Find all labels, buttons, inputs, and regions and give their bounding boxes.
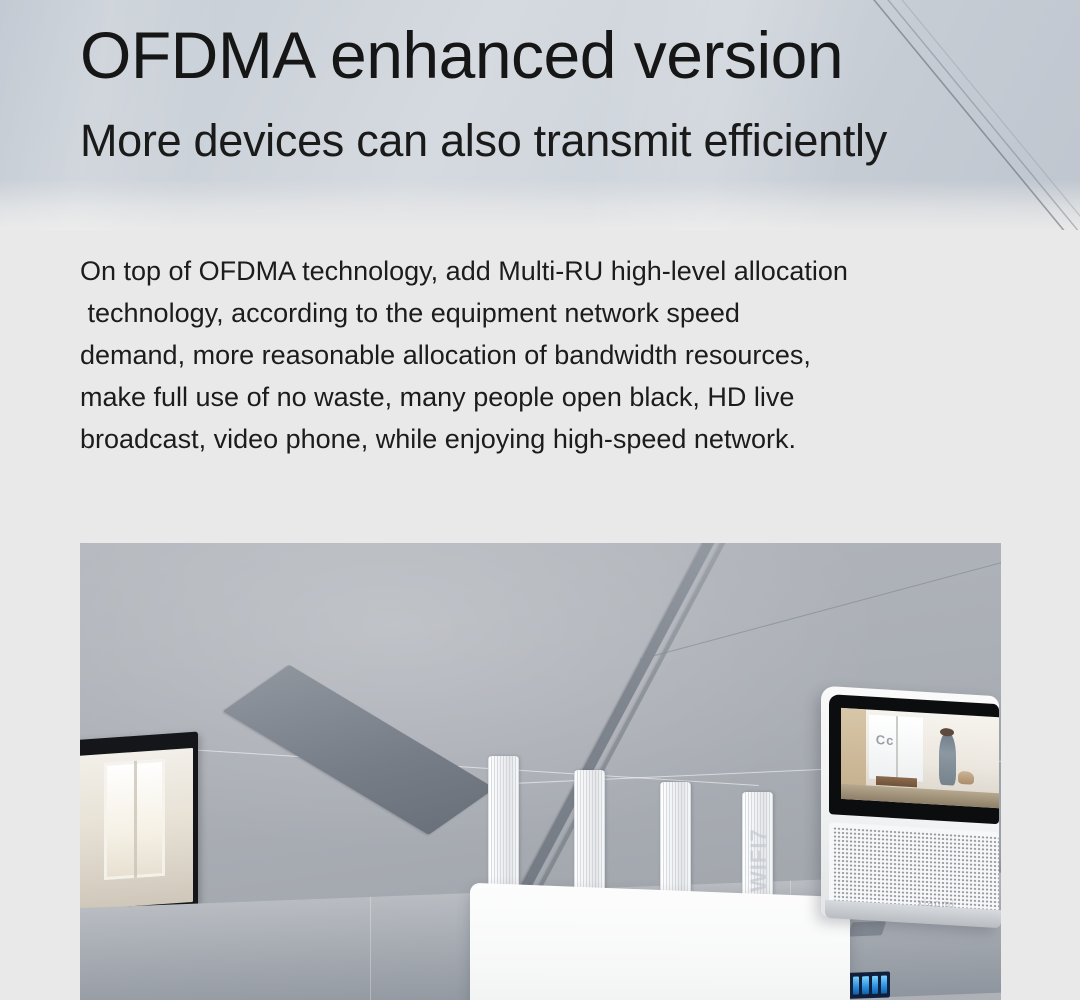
video-caption-text: Cc: [876, 732, 895, 748]
smart-display-video-frame: Cc: [841, 708, 999, 808]
product-detail-page: OFDMA enhanced version More devices can …: [0, 0, 1080, 1000]
smart-display-device: Cc xiaomi: [821, 691, 1001, 991]
product-photo: WIFI7 XIAOMI Cc: [80, 543, 1001, 1000]
router-antenna: [660, 782, 691, 908]
description-line: broadcast, video phone, while enjoying h…: [80, 418, 980, 460]
page-subtitle: More devices can also transmit efficient…: [80, 118, 887, 163]
description-line: make full use of no waste, many people o…: [80, 376, 980, 418]
page-title: OFDMA enhanced version: [80, 22, 843, 88]
description-line: On top of OFDMA technology, add Multi-RU…: [80, 250, 980, 292]
router-antenna: WIFI7: [742, 792, 773, 908]
laptop-screen-image: [80, 748, 193, 910]
smart-display-screen: Cc: [829, 694, 999, 824]
antenna-wifi-label: WIFI7: [746, 818, 768, 892]
description-line: technology, according to the equipment n…: [80, 292, 980, 334]
router-body: XIAOMI: [470, 883, 850, 1000]
description-paragraph: On top of OFDMA technology, add Multi-RU…: [80, 250, 980, 460]
description-line: demand, more reasonable allocation of ba…: [80, 334, 980, 376]
smart-display-shell: Cc xiaomi: [821, 686, 999, 927]
router-device: WIFI7 XIAOMI: [470, 740, 850, 1000]
laptop-screen-window: [104, 759, 165, 880]
